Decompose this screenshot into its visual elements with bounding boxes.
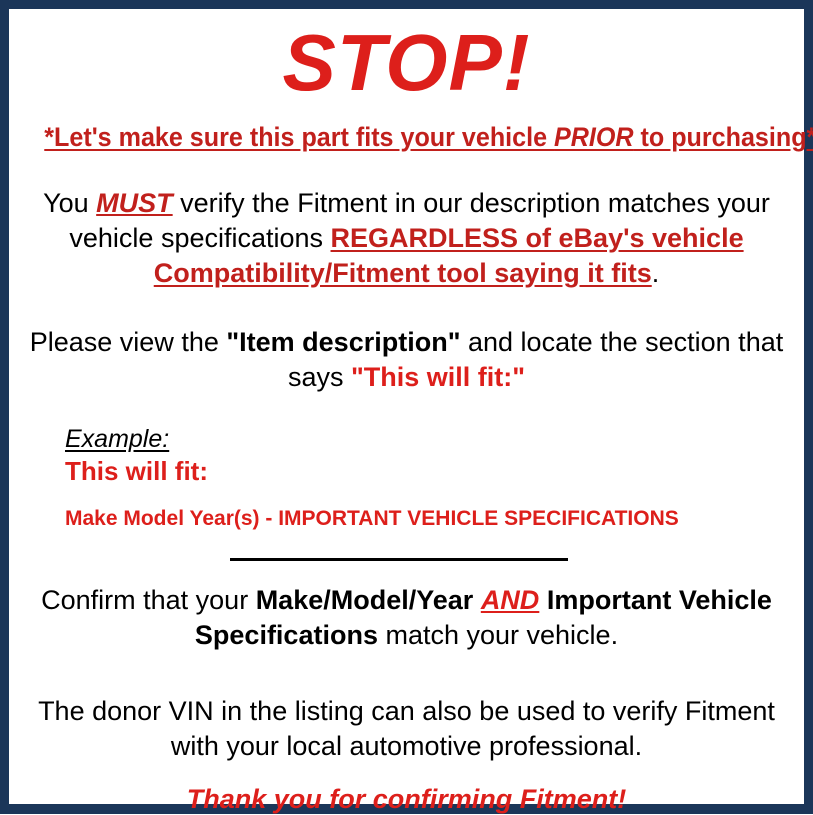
subtitle-prefix: *Let's make sure this part fits your veh… xyxy=(44,122,554,152)
confirm-space-1 xyxy=(473,585,481,615)
donor-vin-paragraph: The donor VIN in the listing can also be… xyxy=(17,694,796,764)
example-will-fit-heading: This will fit: xyxy=(65,456,796,486)
notice-content-area: STOP! *Let's make sure this part fits yo… xyxy=(9,9,804,804)
horizontal-divider xyxy=(230,558,568,561)
thank-you-line: Thank you for confirming Fitment! xyxy=(17,783,796,815)
example-label-wrap: Example: xyxy=(65,425,796,454)
example-label: Example: xyxy=(65,425,169,454)
fitment-notice-frame: STOP! *Let's make sure this part fits yo… xyxy=(0,0,813,814)
confirm-bold-make-model-year: Make/Model/Year xyxy=(256,585,474,615)
subtitle-banner: *Let's make sure this part fits your veh… xyxy=(44,121,768,153)
confirm-space-2 xyxy=(539,585,547,615)
divider-wrapper xyxy=(17,554,796,566)
confirm-paragraph: Confirm that your Make/Model/Year AND Im… xyxy=(17,583,796,653)
must-verify-paragraph: You MUST verify the Fitment in our descr… xyxy=(17,186,796,291)
item-description-paragraph: Please view the "Item description" and l… xyxy=(17,325,796,395)
confirm-seg2: match your vehicle. xyxy=(378,620,618,650)
must-paragraph-seg1: You xyxy=(43,188,96,218)
must-keyword: MUST xyxy=(96,188,173,218)
example-block: Example: This will fit: Make Model Year(… xyxy=(17,425,796,532)
this-will-fit-quote: "This will fit:" xyxy=(351,362,525,392)
subtitle-emphasis-prior: PRIOR xyxy=(554,122,634,152)
subtitle-suffix: to purchasing* xyxy=(634,122,813,152)
and-keyword: AND xyxy=(481,585,540,615)
must-paragraph-period: . xyxy=(652,258,660,288)
example-spec-line: Make Model Year(s) - IMPORTANT VEHICLE S… xyxy=(65,506,796,532)
confirm-seg1: Confirm that your xyxy=(41,585,256,615)
item-description-quote: "Item description" xyxy=(226,327,460,357)
page-title: STOP! xyxy=(17,21,796,105)
itemdesc-seg1: Please view the xyxy=(30,327,227,357)
